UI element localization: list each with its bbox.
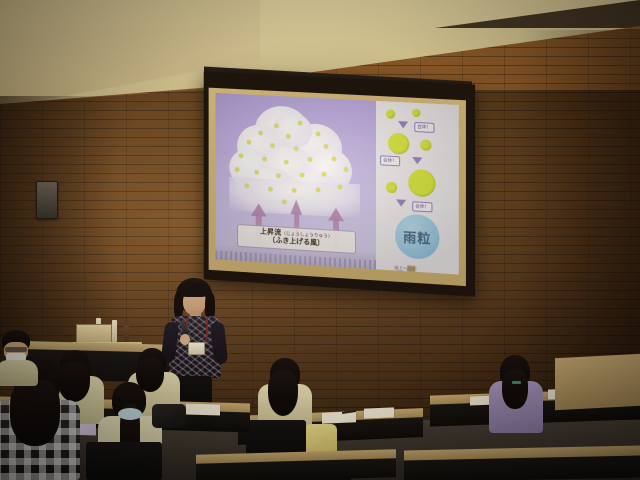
merge-chevron-1 — [398, 121, 408, 129]
projected-slide: 上昇流（じょうしょうりゅう） 〔ふき上げる風〕 合体！ 合体！ — [215, 93, 458, 275]
ground-label: 地上へGO！ — [394, 265, 419, 273]
wooden-partition — [555, 354, 640, 410]
worksheet-paper — [186, 404, 220, 416]
presenter-name-badge — [188, 342, 205, 355]
merge-chevron-3 — [396, 199, 406, 207]
merge-label-1: 合体！ — [414, 122, 434, 133]
student-back-left — [0, 330, 40, 384]
hair-tie — [118, 408, 142, 420]
worksheet-paper — [364, 407, 394, 418]
raindrop-circle: 雨粒 — [395, 213, 439, 260]
droplet-small-2 — [412, 109, 420, 117]
student-right — [486, 355, 546, 431]
slide-right-panel: 合体！ 合体！ 合体！ 雨粒 地上へGO！ — [376, 101, 459, 275]
worksheet-paper — [322, 411, 356, 423]
merge-label-3: 合体！ — [412, 201, 432, 212]
projection-screen: 上昇流（じょうしょうりゅう） 〔ふき上げる風〕 合体！ 合体！ — [204, 72, 475, 297]
lecture-room-photo: 上昇流（じょうしょうりゅう） 〔ふき上げる風〕 合体！ 合体！ — [0, 0, 640, 480]
chair-back — [86, 442, 162, 480]
merge-label-2: 合体！ — [380, 155, 400, 166]
droplet-small-4 — [386, 182, 397, 194]
presenter-right-arm — [210, 321, 228, 364]
droplet-medium-1 — [388, 133, 409, 155]
black-bag — [152, 404, 186, 428]
updraft-caption-ruby: （じょうしょうりゅう） — [281, 230, 332, 238]
raindrop-label: 雨粒 — [403, 226, 431, 247]
merge-chevron-2 — [412, 157, 422, 165]
cumulonimbus-cloud-icon — [229, 104, 360, 215]
droplet-large-1 — [408, 169, 435, 198]
wall-sensor-box — [36, 181, 58, 219]
glasses — [5, 347, 27, 352]
slide-left-panel: 上昇流（じょうしょうりゅう） 〔ふき上げる風〕 — [215, 93, 376, 269]
lanyard-strap — [512, 381, 521, 384]
droplet-small-1 — [386, 109, 395, 118]
droplet-small-3 — [420, 139, 431, 151]
screen-surface: 上昇流（じょうしょうりゅう） 〔ふき上げる風〕 合体！ 合体！ — [209, 88, 466, 286]
wall-right-shadow — [520, 30, 640, 410]
